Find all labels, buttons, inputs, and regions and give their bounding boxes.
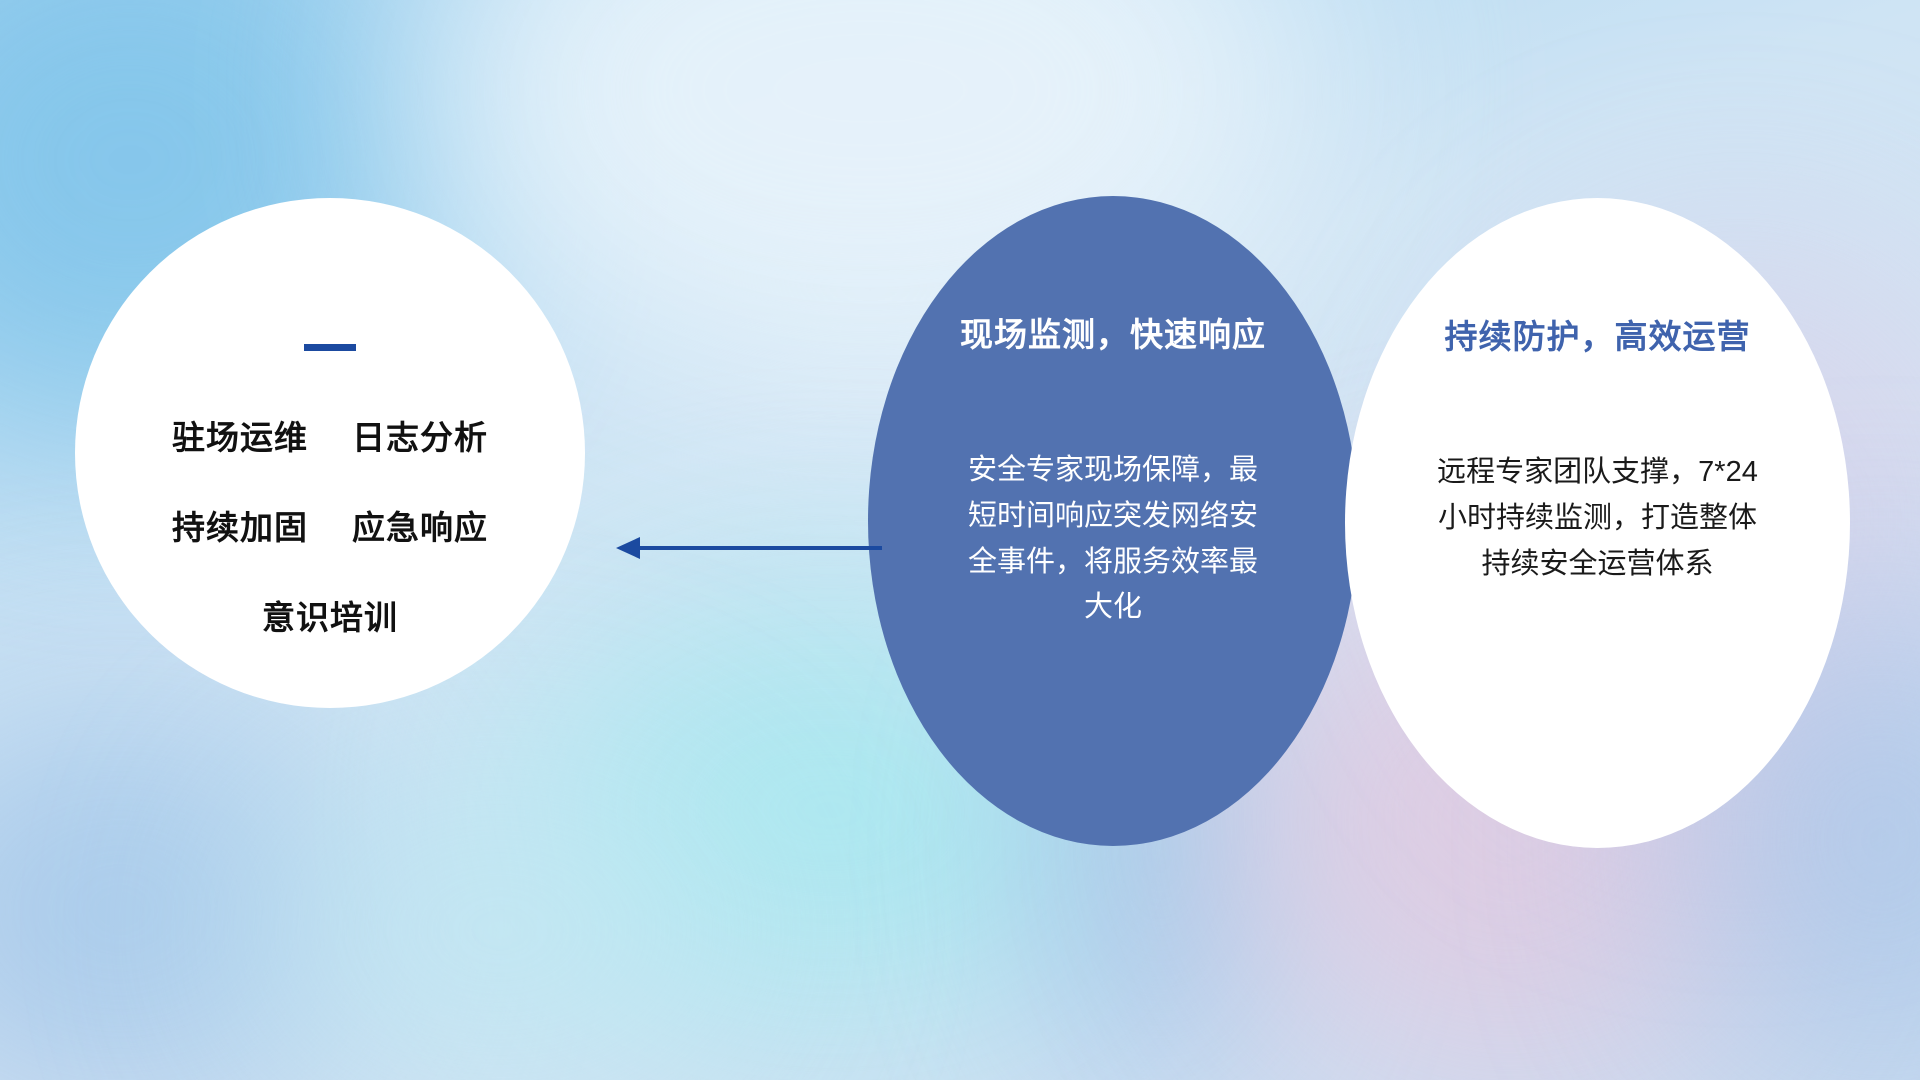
keyword-onsite-ops: 驻场运维 [172,411,308,459]
keyword-log-analysis: 日志分析 [352,411,488,459]
keyword-continuous-hardening: 持续加固 [172,501,308,549]
card-left-service-keywords[interactable]: 驻场运维 日志分析 持续加固 应急响应 意识培训 [75,198,585,708]
card-right-continuous-protection[interactable]: 持续防护，高效运营 远程专家团队支撑，7*24小时持续监测，打造整体持续安全运营… [1345,198,1850,848]
keyword-row-3: 意识培训 [262,591,398,639]
divider-dash-icon [304,344,356,351]
slide-canvas: 现场监测，快速响应 安全专家现场保障，最短时间响应突发网络安全事件，将服务效率最… [0,0,1920,1080]
card-middle-content: 现场监测，快速响应 安全专家现场保障，最短时间响应突发网络安全事件，将服务效率最… [868,308,1358,631]
card-right-body: 远程专家团队支撑，7*24小时持续监测，打造整体持续安全运营体系 [1428,450,1768,587]
card-middle-heading: 现场监测，快速响应 [960,308,1266,356]
card-middle-onsite-monitoring[interactable]: 现场监测，快速响应 安全专家现场保障，最短时间响应突发网络安全事件，将服务效率最… [868,196,1358,846]
keyword-awareness-training: 意识培训 [262,591,398,639]
keyword-row-1: 驻场运维 日志分析 [172,411,488,459]
keyword-emergency-response: 应急响应 [352,501,488,549]
card-middle-body: 安全专家现场保障，最短时间响应突发网络安全事件，将服务效率最大化 [963,448,1263,631]
keyword-row-2: 持续加固 应急响应 [172,501,488,549]
card-right-content: 持续防护，高效运营 远程专家团队支撑，7*24小时持续监测，打造整体持续安全运营… [1345,310,1850,587]
card-right-heading: 持续防护，高效运营 [1445,310,1751,358]
connector-arrow-left-icon [610,528,885,568]
card-left-content: 驻场运维 日志分析 持续加固 应急响应 意识培训 [75,344,585,639]
